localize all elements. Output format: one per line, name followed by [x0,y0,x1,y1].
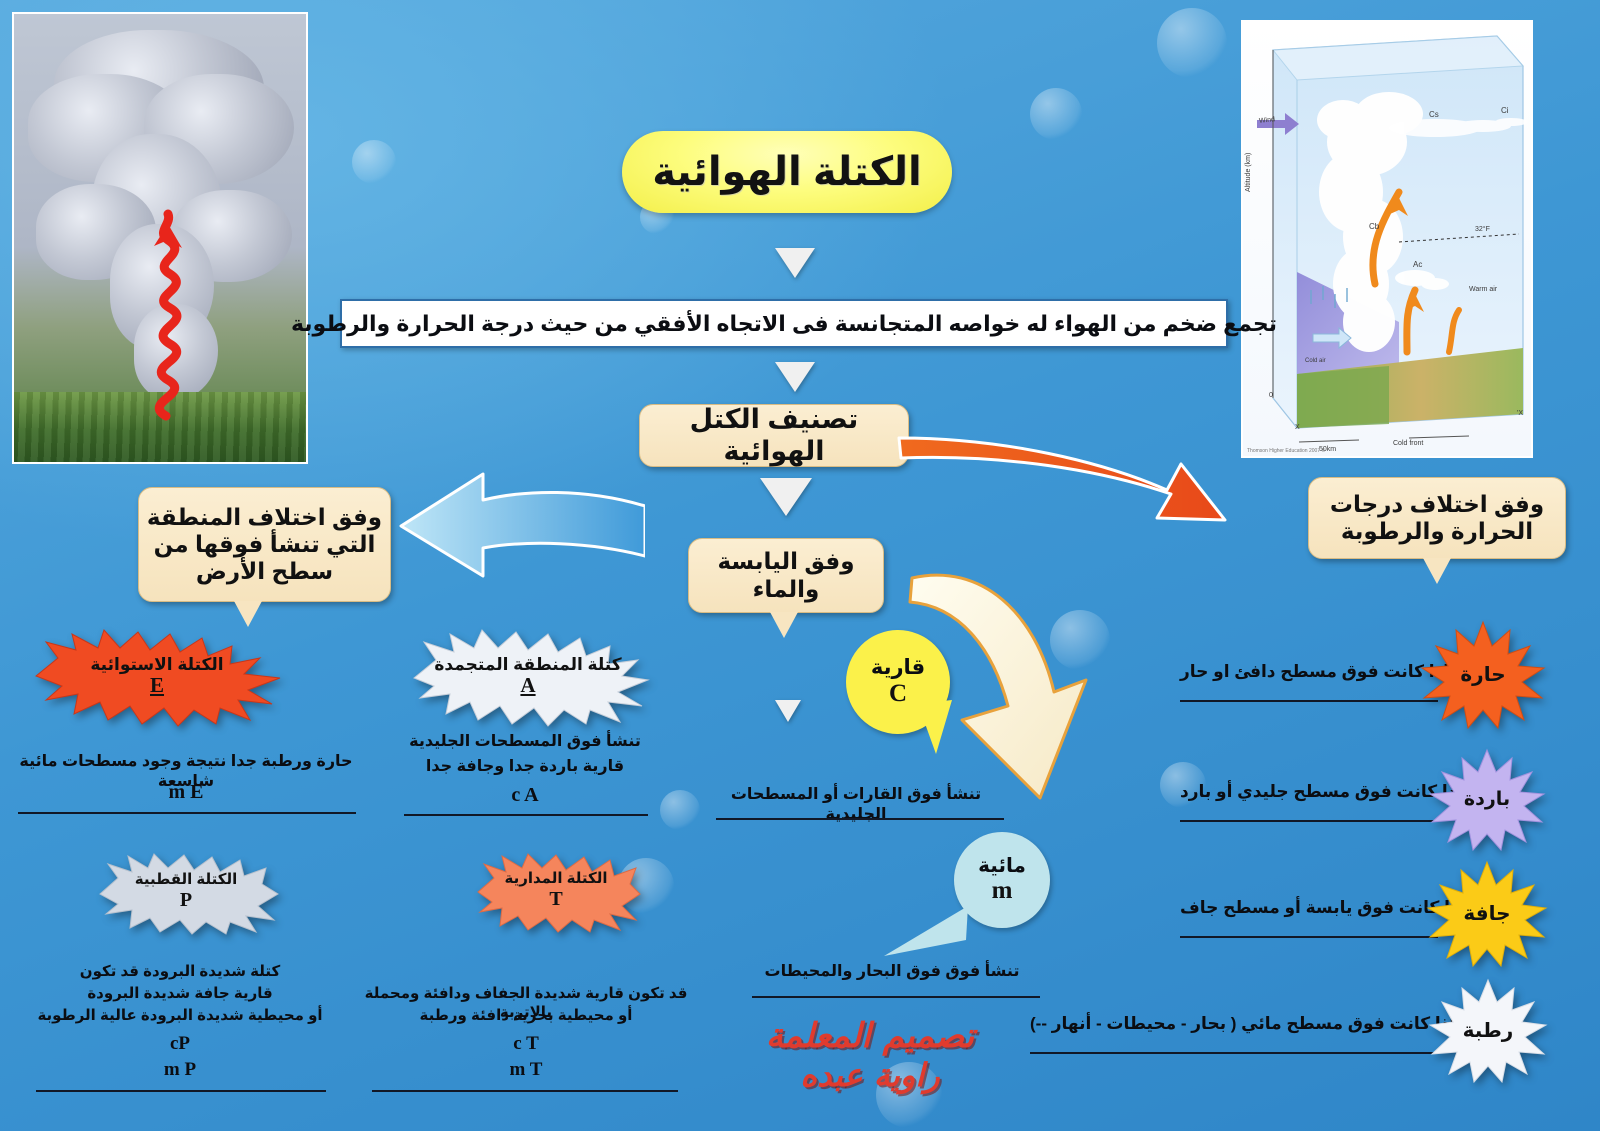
star-cold: باردة [1426,748,1548,852]
branch-land-water-label: وفق اليابسة والماء [689,548,883,602]
star-arctic-name: كتلة المنطقة المتجمدة [434,655,621,674]
background-bubble [660,790,700,830]
divider-line [1180,820,1438,822]
diagram-credit: © 2007 Thomson Higher Education [1247,448,1325,454]
arrow-classification-to-region [395,470,645,580]
branch-humidity-temp-label: وفق اختلاف درجات الحرارة والرطوبة [1309,491,1565,545]
hot-description: اذا كانت فوق مسطح دافئ او حار [1180,662,1449,682]
star-polar-code: P [180,889,192,911]
divider-line [1030,1052,1438,1054]
divider-line [372,1090,678,1092]
diagram-label-cold-front: Cold front [1393,440,1423,447]
diagram-label-ci: Ci [1501,106,1509,115]
polar-symbol-maritime: m P [10,1058,350,1082]
bubble-maritime-tail [880,900,970,960]
star-tropical-code: T [549,888,562,910]
arrow-landwater-to-continental [775,700,801,722]
star-humid-label: رطبة [1463,1020,1514,1042]
arrow-definition-to-classification [775,362,815,392]
branch-region: وفق اختلاف المنطقة التي تنشأ فوقها من سط… [138,487,391,602]
diagram-canvas: Wind Altitude (km) Cb Cs Ci Ac 32°F Warm… [1243,22,1531,456]
definition-text: تجمع ضخم من الهواء له خواصه المتجانسة فى… [291,311,1277,337]
maritime-description: تنشأ فوق فوق البحار والمحيطات [742,962,1042,982]
definition-box: تجمع ضخم من الهواء له خواصه المتجانسة فى… [340,299,1228,348]
arctic-description-line1: تنشأ فوق المسطحات الجليدية [400,732,650,752]
diagram-label-x-prime: X' [1517,410,1523,417]
divider-line [18,812,356,814]
star-arctic-mass: كتلة المنطقة المتجمدة A [404,628,652,728]
diagram-label-cb: Cb [1369,222,1379,231]
divider-line [1180,936,1438,938]
diagram-label-cold-air: Cold air [1305,358,1326,364]
polar-symbol-continental: cP [10,1032,350,1056]
star-cold-label: باردة [1464,789,1510,810]
designer-signature: تصميم المعلمة راوية عبده [710,1016,1030,1120]
tropical-symbol-continental: c T [352,1032,700,1056]
background-bubble [1030,88,1082,140]
diagram-label-cs: Cs [1429,110,1439,119]
polar-description-line1: كتلة شديدة البرودة قد تكون [10,963,350,982]
star-polar-name: الكتلة القطبية [135,872,238,889]
branch-humidity-temp: وفق اختلاف درجات الحرارة والرطوبة [1308,477,1566,559]
classification-box: تصنيف الكتل الهوائية [639,404,909,467]
diagram-label-zero: 0 [1269,392,1273,399]
signature-line2: راوية عبده [710,1056,1030,1094]
updraft-spiral-icon [132,202,202,422]
arrow-landwater-to-maritime [890,560,1120,830]
background-bubble [352,140,396,184]
arrow-title-to-definition [775,248,815,278]
star-hot: حارة [1418,620,1548,730]
tropical-symbol-maritime: m T [352,1058,700,1082]
page-title: الكتلة الهوائية [622,131,952,213]
arctic-description-line2: قارية باردة جدا وجافة جدا [400,757,650,777]
background-bubble [1157,8,1227,78]
arrow-classification-to-humidity [895,428,1235,526]
diagram-label-altitude: Altitude (km) [1245,153,1252,192]
diagram-label-ac: Ac [1413,260,1422,269]
divider-line [404,814,648,816]
diagram-label-x: X [1295,424,1300,431]
tropical-description-line2: أو محيطية بحرية دافئة ورطبة [352,1007,700,1026]
star-equatorial-code: E [150,674,164,698]
dry-description: اذا كانت فوق يابسة أو مسطح جاف [1180,898,1465,918]
star-arctic-code: A [520,674,535,698]
bubble-maritime-code: m [992,877,1013,905]
arctic-symbol: c A [400,783,650,808]
branch-region-label: وفق اختلاف المنطقة التي تنشأ فوقها من سط… [139,504,390,585]
tornado-photo [12,12,308,464]
star-dry: جافة [1424,860,1550,968]
diagram-svg [1241,22,1531,458]
callout-tail [1423,558,1451,584]
divider-line [36,1090,326,1092]
page-title-text: الكتلة الهوائية [652,149,922,195]
polar-description-line3: أو محيطية شديدة البرودة عالية الرطوبة [10,1007,350,1026]
equatorial-symbol: m E [10,780,362,805]
arrow-classification-to-landwater [760,478,812,516]
callout-tail [770,612,798,638]
star-hot-label: حارة [1460,664,1505,686]
divider-line [1180,700,1438,702]
star-tropical-mass: الكتلة المدارية T [470,852,642,934]
classification-label: تصنيف الكتل الهوائية [640,404,908,468]
star-equatorial-mass: الكتلة الاستوائية E [24,628,290,728]
star-equatorial-name: الكتلة الاستوائية [90,655,223,674]
diagram-label-temp: 32°F [1475,226,1490,233]
star-polar-mass: الكتلة القطبية P [92,852,280,936]
humid-description: اذا كانت فوق مسطح مائي ( بحار - محيطات -… [1030,1014,1455,1034]
callout-tail [234,601,262,627]
polar-description-line2: قارية جافة شديدة البرودة [10,985,350,1004]
cold-description: اذا كانت فوق مسطح جليدي أو بارد [1180,782,1462,802]
bubble-maritime-name: مائية [978,855,1026,877]
star-dry-label: جافة [1463,903,1510,925]
star-humid: رطبة [1426,978,1550,1084]
storm-cross-section-diagram: Wind Altitude (km) Cb Cs Ci Ac 32°F Warm… [1241,20,1533,458]
divider-line [752,996,1040,998]
signature-line1: تصميم المعلمة [710,1016,1030,1056]
star-tropical-name: الكتلة المدارية [505,871,608,888]
branch-land-water: وفق اليابسة والماء [688,538,884,613]
diagram-label-warm-air: Warm air [1469,286,1497,293]
